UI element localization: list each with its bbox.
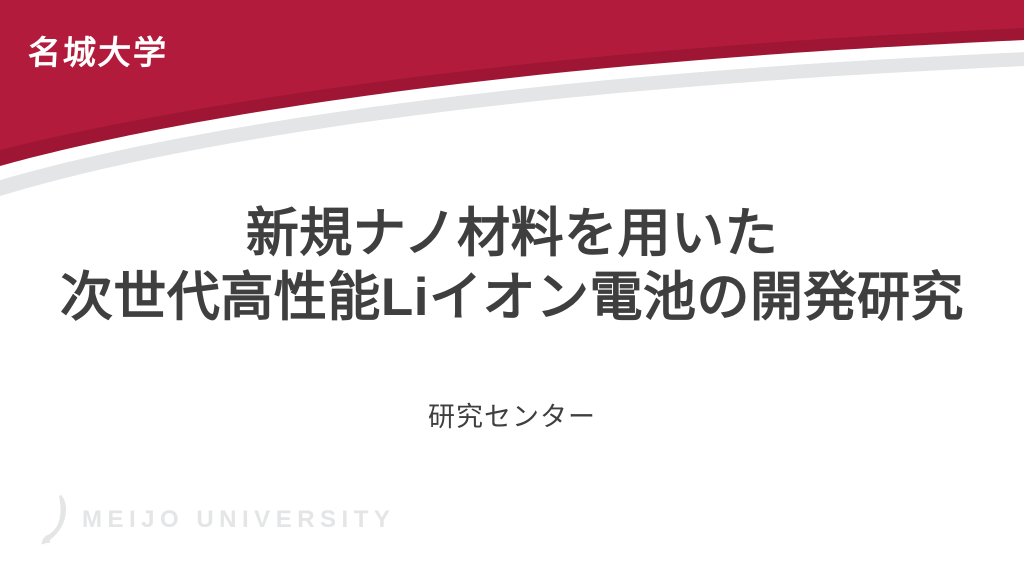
title-slide: 名城大学 新規ナノ材料を用いた 次世代高性能Liイオン電池の開発研究 研究センタ… (0, 0, 1024, 576)
title-line-1: 新規ナノ材料を用いた (0, 202, 1024, 266)
university-logo-text: 名城大学 (27, 36, 169, 69)
title-line-2: 次世代高性能Liイオン電池の開発研究 (0, 266, 1024, 330)
university-logo: 名城大学 (28, 28, 218, 76)
footer-wordmark: MEIJO UNIVERSITY (38, 492, 395, 548)
meijo-leaf-mark-icon (38, 494, 72, 546)
subtitle: 研究センター (0, 400, 1024, 434)
footer-wordmark-text: MEIJO UNIVERSITY (82, 508, 395, 532)
page-title: 新規ナノ材料を用いた 次世代高性能Liイオン電池の開発研究 (0, 202, 1024, 330)
